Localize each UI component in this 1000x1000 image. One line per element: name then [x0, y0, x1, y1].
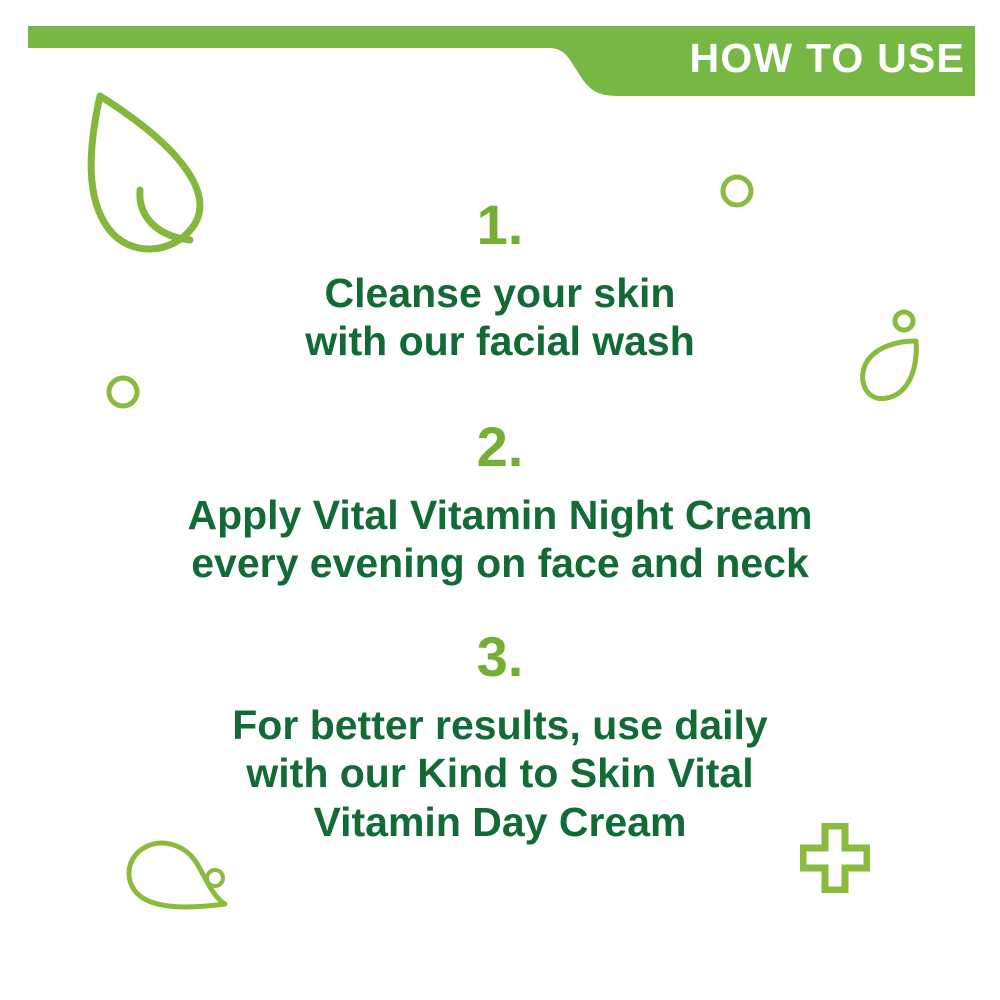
step-number-1: 1.: [0, 196, 1000, 255]
step-item-3: 3. For better results, use daily with ou…: [0, 628, 1000, 846]
step-number-3: 3.: [0, 628, 1000, 687]
step-item-2: 2. Apply Vital Vitamin Night Cream every…: [0, 418, 1000, 588]
step-text-1: Cleanse your skin with our facial wash: [0, 269, 1000, 366]
step-number-2: 2.: [0, 418, 1000, 477]
steps-list: 1. Cleanse your skin with our facial was…: [0, 0, 1000, 1000]
step-item-1: 1. Cleanse your skin with our facial was…: [0, 196, 1000, 366]
how-to-use-infographic: HOW TO USE 1. Cl: [0, 0, 1000, 1000]
step-text-2: Apply Vital Vitamin Night Cream every ev…: [0, 491, 1000, 588]
step-text-3: For better results, use daily with our K…: [0, 701, 1000, 846]
